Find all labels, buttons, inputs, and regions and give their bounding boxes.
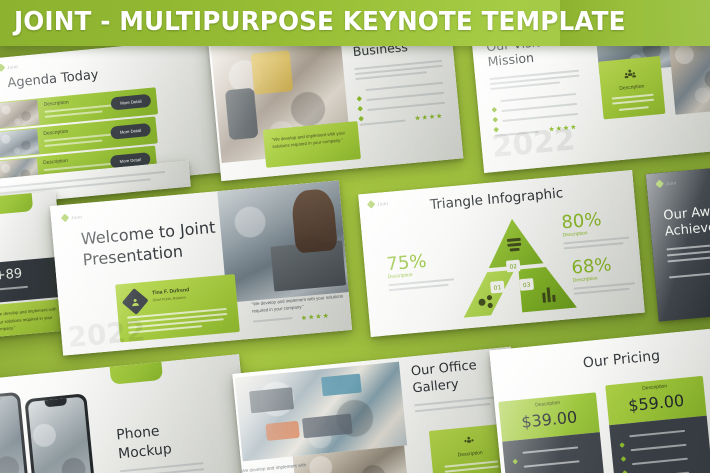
row-label: Description — [43, 158, 68, 166]
description-card: Description — [598, 56, 665, 120]
svg-text:02: 02 — [509, 264, 517, 271]
person-role: Chief Public Relation — [153, 295, 187, 302]
header-banner: JOINT - MULTIPURPOSE KEYNOTE TEMPLATE — [0, 0, 710, 46]
team-icon — [623, 67, 637, 81]
counter-value: +89 — [0, 266, 23, 284]
stat-block: 68% Description — [571, 252, 640, 295]
pricing-card[interactable]: Description $59.00 — [605, 376, 710, 473]
more-detail-button[interactable]: More Detail — [110, 123, 151, 140]
watermark-year: 2022 — [66, 314, 147, 354]
team-icon — [462, 435, 475, 448]
slide-gallery[interactable]: Our Office Gallery Description "We devel… — [232, 347, 523, 473]
logo-text: Joint — [665, 180, 676, 186]
more-detail-button[interactable]: More Detail — [110, 94, 151, 111]
stat-block: 75% Description — [386, 248, 459, 291]
svg-text:03: 03 — [523, 283, 531, 290]
slide-welcome[interactable]: Joint Welcome to Joint Presentation Tina… — [50, 180, 352, 355]
page-title: JOINT - MULTIPURPOSE KEYNOTE TEMPLATE — [14, 7, 626, 37]
quote-text: "We develop and implement with your solu… — [271, 129, 352, 151]
slide-triangle[interactable]: Joint Triangle Infographic — [358, 170, 645, 337]
poster-stage: Joint Agenda Today Description More Deta… — [0, 0, 710, 473]
slide-awards[interactable]: Joint Our Awards Achievement — [646, 163, 710, 322]
card-label: Description — [601, 82, 663, 94]
phone-device — [24, 393, 98, 473]
logo-text: Joint — [71, 214, 82, 220]
logo-text: Joint — [7, 64, 18, 70]
row-label: Description — [43, 129, 68, 137]
slide-pricing[interactable]: Our Pricing Description $39.00 Descripti… — [489, 326, 710, 473]
quote-text: "We develop and implement with your solu… — [0, 305, 62, 333]
card-label: Description — [431, 447, 509, 461]
svg-text:01: 01 — [494, 285, 502, 292]
avatar-diamond — [122, 288, 149, 315]
stat-block: 80% Description — [561, 206, 634, 249]
slide-phone[interactable]: Phone Mockup — [0, 354, 252, 473]
user-icon — [130, 296, 141, 307]
triangle-infographic-graphic: 02 01 03 — [453, 212, 579, 320]
row-label: Description — [43, 100, 68, 108]
pricing-card[interactable]: Description $39.00 — [498, 392, 606, 473]
